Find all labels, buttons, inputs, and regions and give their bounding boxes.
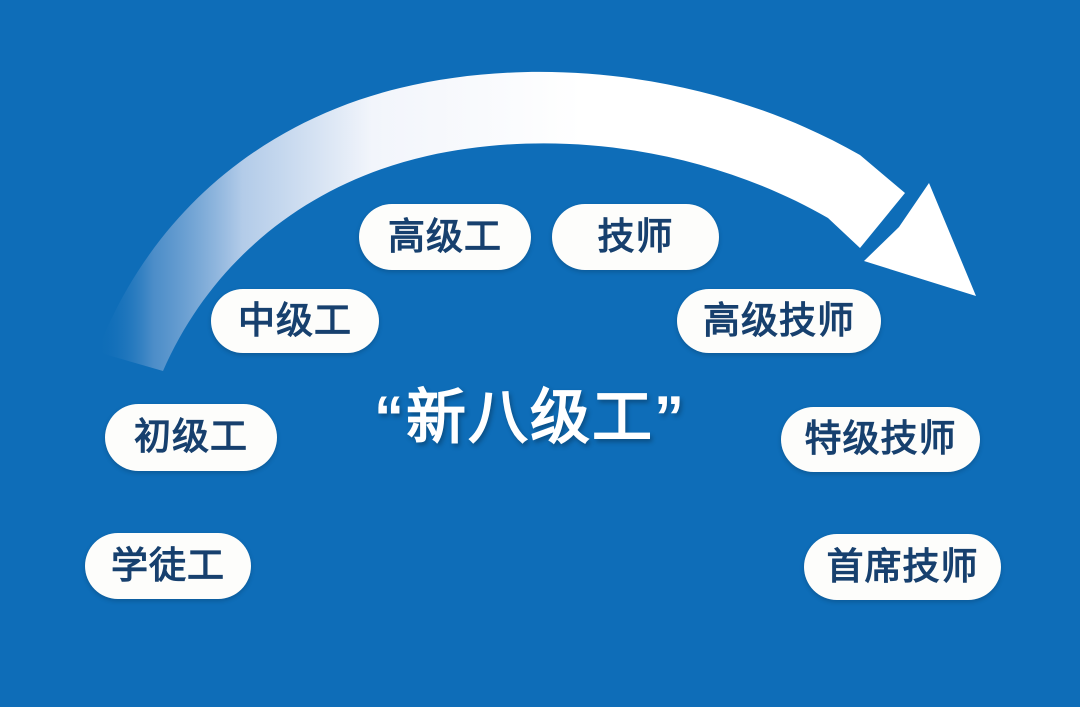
level-pill-label: 学徒工	[111, 547, 225, 584]
level-pill-label: 首席技师	[827, 548, 979, 585]
level-pill-intermediate-worker[interactable]: 中级工	[211, 289, 379, 353]
infographic-canvas: 学徒工 初级工 中级工 高级工 技师 高级技师 特级技师 首席技师 “新八级工”	[0, 0, 1080, 707]
level-pill-technician[interactable]: 技师	[552, 204, 719, 270]
page-title: “新八级工”	[0, 385, 1070, 451]
level-pill-label: 高级工	[388, 218, 502, 255]
level-pill-senior-worker[interactable]: 高级工	[359, 204, 531, 270]
level-pill-apprentice[interactable]: 学徒工	[85, 533, 251, 599]
level-pill-label: 高级技师	[703, 302, 855, 339]
curved-progression-arrow	[0, 0, 1080, 707]
arrow-head	[864, 183, 976, 296]
level-pill-senior-technician[interactable]: 高级技师	[677, 289, 881, 353]
level-pill-chief-technician[interactable]: 首席技师	[804, 534, 1001, 600]
level-pill-label: 中级工	[238, 302, 352, 339]
level-pill-label: 技师	[598, 218, 674, 255]
